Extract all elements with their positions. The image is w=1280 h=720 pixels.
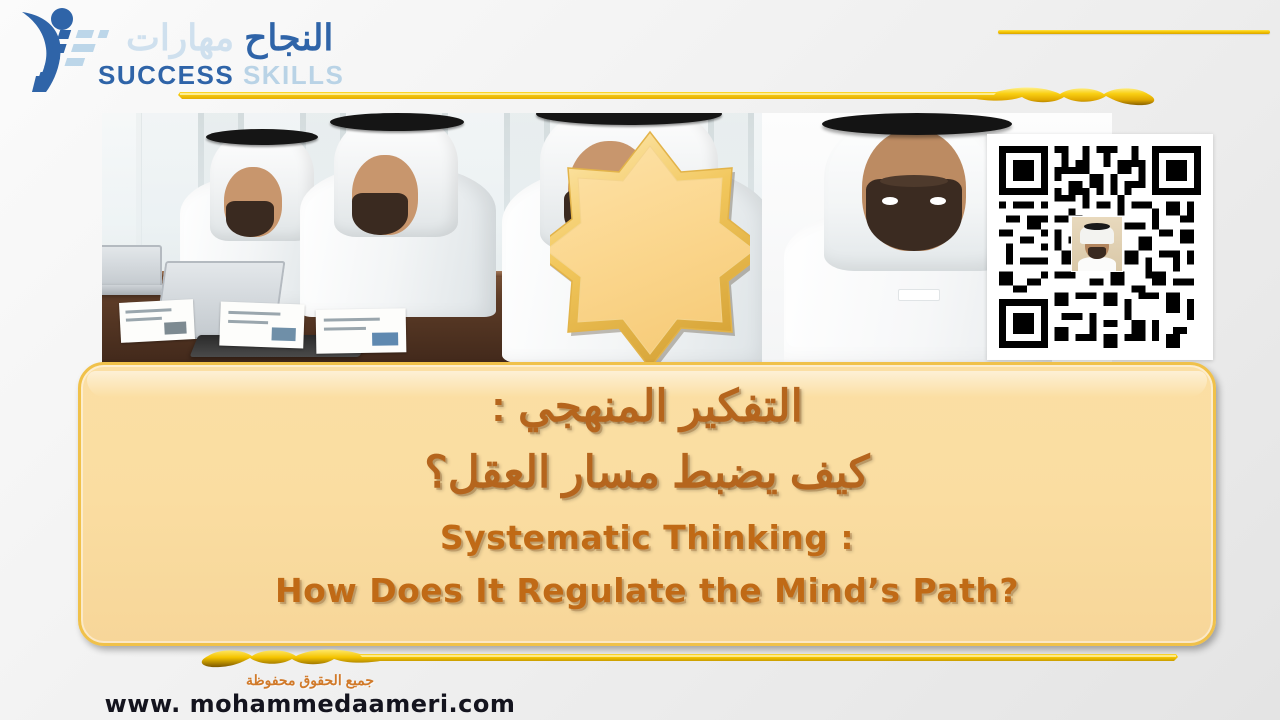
- printed-report-2: [219, 302, 304, 349]
- title-arabic-line-2: كيف يضبط مسار العقل؟: [81, 451, 1213, 495]
- logo-arabic-dark: النجاح: [244, 17, 333, 58]
- printed-report-1: [119, 299, 195, 343]
- qr-embedded-portrait: [1071, 216, 1123, 272]
- website-url[interactable]: www. mohammedaameri.com: [0, 690, 620, 718]
- speaker-eye-right: [930, 197, 946, 205]
- title-panel: التفكير المنهجي : كيف يضبط مسار العقل؟ S…: [78, 362, 1216, 646]
- printed-report-3: [316, 308, 407, 354]
- speaker-agal: [822, 113, 1012, 135]
- copyright-arabic: جميع الحقوق محفوظة: [0, 672, 620, 689]
- title-arabic-line-1: التفكير المنهجي :: [81, 385, 1213, 429]
- top-right-gold-rule: [998, 30, 1270, 34]
- speaker-pocket: [898, 289, 940, 301]
- logo-english-name: SUCCESS SKILLS: [98, 62, 344, 88]
- speaker-eye-left: [882, 197, 898, 205]
- logo-arabic-light: مهارات: [126, 17, 234, 58]
- eight-pointed-star-badge-icon: [550, 118, 750, 368]
- title-text-stack: التفكير المنهجي : كيف يضبط مسار العقل؟ S…: [81, 365, 1213, 607]
- laptop-screen-back: [102, 245, 162, 287]
- presentation-slide: النجاح مهارات SUCCESS SKILLS: [0, 0, 1280, 720]
- speaker-brows: [880, 175, 948, 187]
- logo-arabic-name: النجاح مهارات: [126, 20, 333, 56]
- qr-code-card[interactable]: [987, 134, 1213, 360]
- title-english-line-2: How Does It Regulate the Mind’s Path?: [81, 574, 1213, 607]
- title-english-line-1: Systematic Thinking :: [81, 521, 1213, 554]
- speaker-beard: [866, 179, 962, 251]
